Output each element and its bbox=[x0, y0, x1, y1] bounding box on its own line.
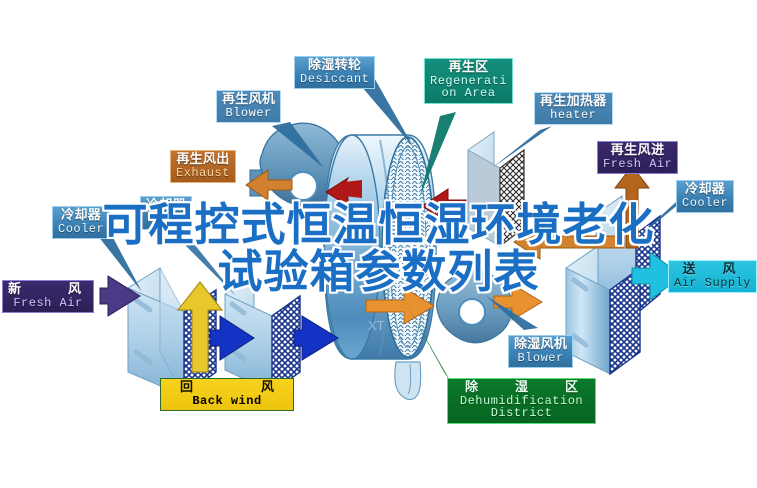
label-regeneration-fresh-air-en: Fresh Air bbox=[603, 158, 672, 171]
schematic-illustration: XT bbox=[0, 0, 757, 488]
label-dehumidification-district-cn: 除 湿 区 bbox=[453, 381, 590, 395]
label-desiccant[interactable]: 除湿转轮 Desiccant bbox=[294, 56, 375, 89]
label-dehumidification-district[interactable]: 除 湿 区 Dehumidification District bbox=[447, 378, 596, 424]
label-cooler-left-cn: 冷却器 bbox=[58, 209, 104, 223]
label-regeneration-heater-cn: 再生加热器 bbox=[540, 95, 607, 109]
label-dehumidification-district-en-line2: District bbox=[453, 407, 590, 420]
label-desiccant-cn: 除湿转轮 bbox=[300, 59, 369, 73]
label-cooler-right-en: Cooler bbox=[682, 197, 728, 210]
label-regeneration-blower[interactable]: 再生风机 Blower bbox=[216, 90, 281, 123]
label-dehumidify-blower-cn: 除湿风机 bbox=[514, 338, 567, 352]
label-back-wind-en: Back wind bbox=[166, 395, 288, 408]
label-exhaust[interactable]: 再生风出 Exhaust bbox=[170, 150, 236, 183]
label-air-supply[interactable]: 送 风 Air Supply bbox=[668, 260, 757, 293]
label-cooler-mid[interactable]: 冷却器 bbox=[140, 196, 192, 230]
label-fresh-air-in-en: Fresh Air bbox=[8, 297, 88, 310]
label-regeneration-area-cn: 再生区 bbox=[430, 61, 507, 75]
label-fresh-air-in-cn: 新 风 bbox=[8, 283, 88, 297]
heater-coil bbox=[468, 132, 524, 246]
svg-text:XT: XT bbox=[368, 318, 385, 333]
label-regeneration-area-en-line2: on Area bbox=[430, 87, 507, 100]
label-cooler-left[interactable]: 冷却器 Cooler bbox=[52, 206, 110, 239]
label-regeneration-blower-en: Blower bbox=[222, 107, 275, 120]
rotor-wheel: XT bbox=[324, 135, 436, 400]
label-regeneration-fresh-air-cn: 再生风进 bbox=[603, 144, 672, 158]
label-cooler-left-en: Cooler bbox=[58, 223, 104, 236]
label-regeneration-blower-cn: 再生风机 bbox=[222, 93, 275, 107]
label-back-wind[interactable]: 回 风 Back wind bbox=[160, 378, 294, 411]
label-air-supply-cn: 送 风 bbox=[674, 263, 751, 277]
label-dehumidify-blower[interactable]: 除湿风机 Blower bbox=[508, 335, 573, 368]
label-exhaust-cn: 再生风出 bbox=[176, 153, 230, 167]
label-regeneration-fresh-air[interactable]: 再生风进 Fresh Air bbox=[597, 141, 678, 174]
label-dehumidify-blower-en: Blower bbox=[514, 352, 567, 365]
label-regeneration-heater[interactable]: 再生加热器 heater bbox=[534, 92, 613, 125]
label-back-wind-cn: 回 风 bbox=[166, 381, 288, 395]
label-regeneration-area[interactable]: 再生区 Regenerati on Area bbox=[424, 58, 513, 104]
label-cooler-right[interactable]: 冷却器 Cooler bbox=[676, 180, 734, 213]
label-air-supply-en: Air Supply bbox=[674, 277, 751, 290]
diagram-canvas: XT bbox=[0, 0, 757, 488]
label-regeneration-heater-en: heater bbox=[540, 109, 607, 122]
label-fresh-air-in[interactable]: 新 风 Fresh Air bbox=[2, 280, 94, 313]
label-desiccant-en: Desiccant bbox=[300, 73, 369, 86]
label-cooler-mid-cn: 冷却器 bbox=[146, 199, 186, 213]
label-cooler-right-cn: 冷却器 bbox=[682, 183, 728, 197]
label-exhaust-en: Exhaust bbox=[176, 167, 230, 180]
